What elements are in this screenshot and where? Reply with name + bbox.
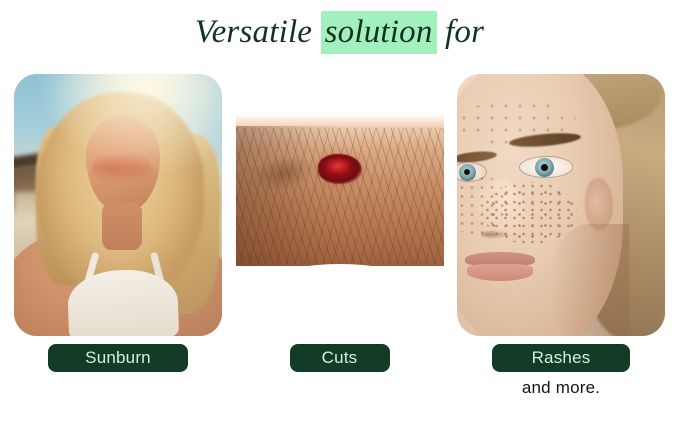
photo-detail — [585, 178, 613, 230]
label-cell-cuts: Cuts — [236, 344, 444, 374]
photo-detail — [236, 264, 444, 324]
sunburn-photo — [14, 74, 222, 336]
label-cell-sunburn: Sunburn — [14, 344, 222, 374]
headline-before: Versatile — [195, 14, 321, 50]
label-cell-rashes: Rashes — [457, 344, 665, 374]
image-card-cuts[interactable] — [236, 74, 444, 336]
image-card-rashes[interactable] — [457, 74, 665, 336]
cuts-photo — [236, 74, 444, 336]
headline-after: for — [437, 14, 485, 50]
headline-highlight: solution — [321, 11, 437, 54]
page-title: Versatile solution for — [0, 12, 679, 52]
image-card-sunburn[interactable] — [14, 74, 222, 336]
rashes-photo — [457, 74, 665, 336]
photo-detail — [14, 74, 222, 194]
label-row: Sunburn Cuts Rashes — [14, 344, 665, 374]
image-card-row — [14, 74, 665, 336]
label-chip-cuts[interactable]: Cuts — [290, 344, 390, 372]
label-chip-sunburn[interactable]: Sunburn — [48, 344, 188, 372]
label-chip-rashes[interactable]: Rashes — [492, 344, 630, 372]
promo-panel: Versatile solution for — [0, 0, 679, 424]
photo-detail — [102, 202, 142, 250]
photo-detail — [467, 264, 533, 281]
photo-detail — [326, 158, 350, 174]
and-more-text: and more. — [457, 378, 665, 398]
photo-detail — [549, 224, 629, 336]
photo-detail — [483, 182, 577, 244]
photo-detail — [541, 164, 548, 171]
photo-detail — [457, 100, 577, 146]
